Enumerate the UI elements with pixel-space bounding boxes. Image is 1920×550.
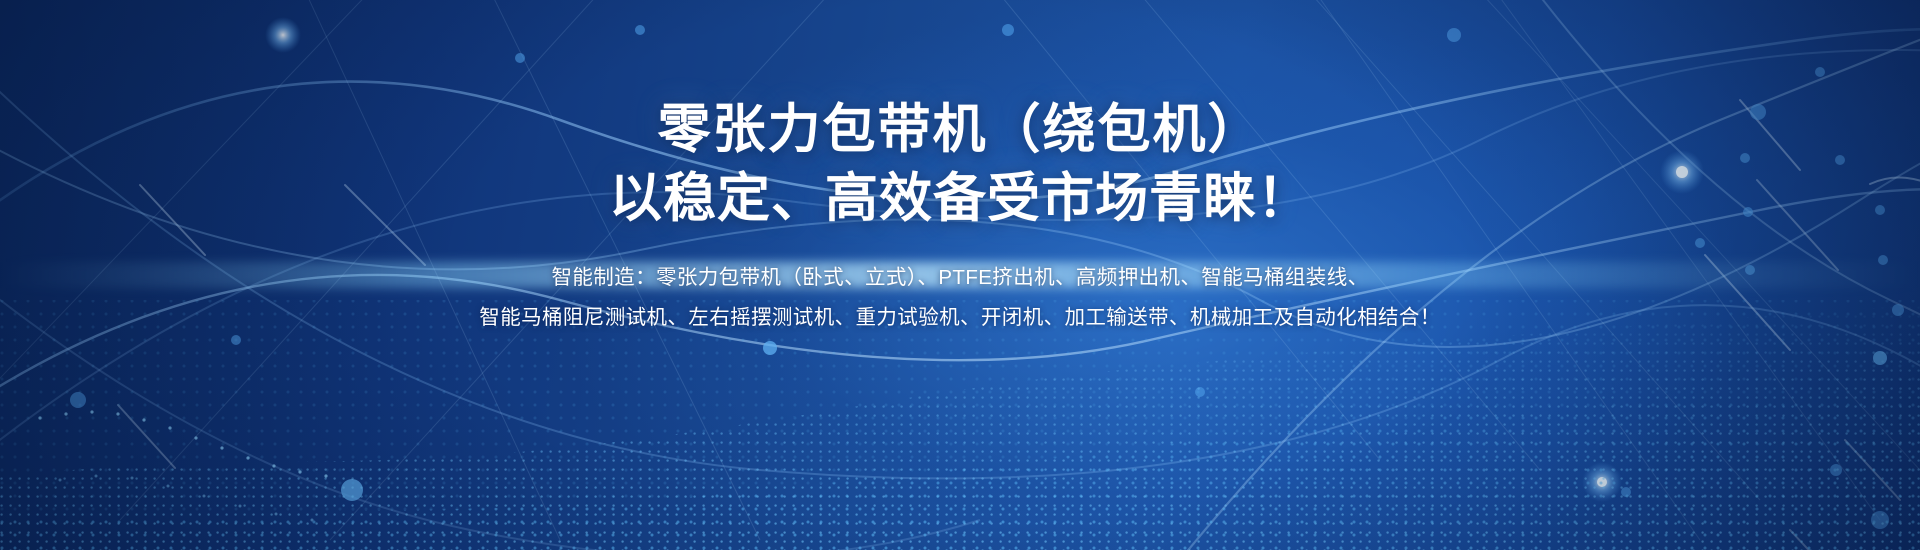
headline-line-2: 以稳定、高效备受市场青睐！ xyxy=(609,165,1311,234)
banner-headline: 零张力包带机（绕包机） 以稳定、高效备受市场青睐！ xyxy=(609,96,1311,234)
headline-line-1: 零张力包带机（绕包机） xyxy=(609,96,1311,165)
banner-subtitle: 智能制造：零张力包带机（卧式、立式）、PTFE挤出机、高频押出机、智能马桶组装线… xyxy=(479,258,1440,338)
subtitle-line-2: 智能马桶阻尼测试机、左右摇摆测试机、重力试验机、开闭机、加工输送带、机械加工及自… xyxy=(479,298,1440,338)
banner-content: 零张力包带机（绕包机） 以稳定、高效备受市场青睐！ 智能制造：零张力包带机（卧式… xyxy=(0,0,1920,550)
subtitle-line-1: 智能制造：零张力包带机（卧式、立式）、PTFE挤出机、高频押出机、智能马桶组装线… xyxy=(479,258,1440,298)
hero-banner: 零张力包带机（绕包机） 以稳定、高效备受市场青睐！ 智能制造：零张力包带机（卧式… xyxy=(0,0,1920,550)
